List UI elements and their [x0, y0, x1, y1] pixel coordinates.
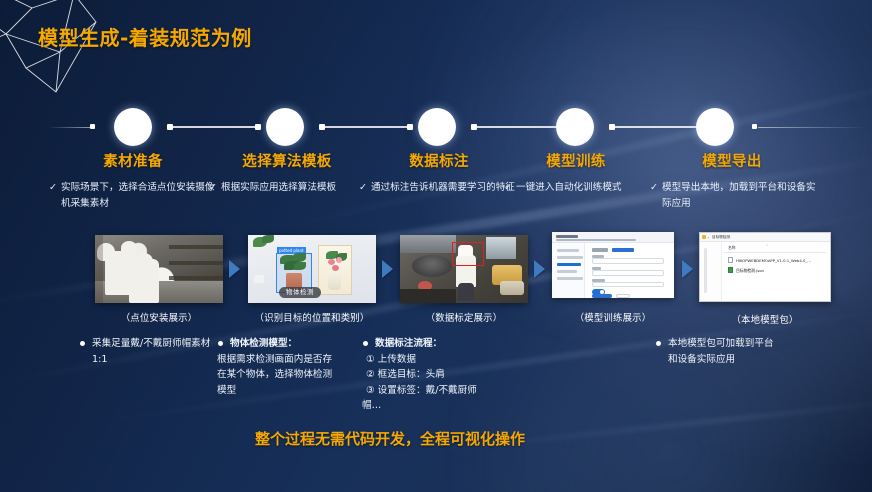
bullet-dot-icon: [80, 341, 85, 346]
bullet-dot-icon: [363, 341, 368, 346]
presentation-slide: 模型生成-着装规范为例 素材准备 ✓ 实际场景下，选择合适点位安装摄像机采集素材…: [0, 0, 872, 492]
submit-button[interactable]: [592, 294, 612, 298]
note-text: 1:1: [79, 352, 229, 368]
step-check-2: ✓ 根据实际应用选择算法模板: [203, 180, 371, 196]
step-caption-1: （点位安装展示）: [95, 310, 223, 324]
step-check-text-4: 一键进入自动化训练模式: [516, 182, 622, 193]
json-file-icon: [728, 267, 733, 273]
timeline-connector-4-5: [612, 126, 700, 128]
explorer-path: 目标物检测: [712, 235, 730, 240]
step-title-1: 素材准备: [49, 150, 217, 171]
explorer-nav-pane[interactable]: [700, 242, 722, 301]
note-text: ② 框选目标：头肩: [362, 367, 512, 383]
step-check-1: ✓ 实际场景下，选择合适点位安装摄像机采集素材: [49, 180, 217, 212]
note-text: 和设备实际应用: [655, 352, 815, 368]
step-image-3: [400, 235, 528, 303]
step-column-1: 素材准备 ✓ 实际场景下，选择合适点位安装摄像机采集素材: [49, 150, 217, 212]
note-text: 本地模型包可加载到平台: [668, 338, 774, 349]
folder-icon: [702, 235, 706, 239]
polygon-wireframe-decoration: [0, 0, 180, 120]
step-caption-5: （本地模型包）: [699, 312, 831, 326]
note-text: 采集足量戴/不戴厨师帽素材: [92, 338, 210, 349]
note-heading-text: 数据标注流程：: [375, 338, 442, 349]
explorer-file-name[interactable]: 目标物检测.json: [736, 268, 764, 274]
note-column-3: 数据标注流程： ① 上传数据 ② 框选目标：头肩 ③ 设置标签：戴/不戴厨师 帽…: [362, 336, 512, 414]
note-column-2: 物体检测模型： 根据需求检测画面内是否存 在某个物体，选择物体检测 模型: [217, 336, 359, 398]
timeline-connector-2-3: [322, 126, 410, 128]
flow-arrow-1: [229, 260, 240, 278]
step-check-text-2: 根据实际应用选择算法模板: [221, 182, 336, 193]
process-timeline: [0, 108, 872, 154]
timeline-node-5[interactable]: [696, 108, 734, 146]
chevron-right-icon: ›: [708, 235, 710, 240]
file-icon: [728, 257, 733, 263]
note-bullet-1: 采集足量戴/不戴厨师帽素材: [79, 336, 229, 352]
step-column-2: 选择算法模板 ✓ 根据实际应用选择算法模板: [203, 150, 371, 196]
timeline-node-1[interactable]: [114, 108, 152, 146]
scrollbar[interactable]: [704, 248, 707, 293]
note-text: 根据需求检测画面内是否存: [217, 352, 359, 368]
summary-note: 整个过程无需代码开发，全程可视化操作: [255, 428, 625, 451]
note-text: ① 上传数据: [362, 352, 512, 368]
check-icon: ✓: [49, 180, 57, 196]
note-column-1: 采集足量戴/不戴厨师帽素材 1:1: [79, 336, 229, 367]
timeline-node-3[interactable]: [418, 108, 456, 146]
check-icon: ✓: [650, 180, 658, 196]
page-title: 模型生成-着装规范为例: [38, 22, 252, 51]
step-image-2: potted plant 物体检测: [248, 235, 376, 303]
timeline-connector-1-2: [170, 126, 258, 128]
step-check-text-5: 模型导出本地，加载到平台和设备实际应用: [662, 182, 816, 209]
timeline-node-2[interactable]: [266, 108, 304, 146]
detection-result-label: 物体检测: [279, 287, 321, 298]
note-text: ③ 设置标签：戴/不戴厨师: [362, 383, 512, 399]
note-text: 模型: [217, 383, 359, 399]
bullet-dot-icon: [218, 341, 223, 346]
step-image-4: [552, 232, 674, 298]
sort-caret-icon: ˄: [766, 244, 768, 249]
annotation-bounding-box: [452, 242, 484, 266]
note-heading-2: 物体检测模型：: [217, 336, 359, 352]
step-check-text-1: 实际场景下，选择合适点位安装摄像机采集素材: [61, 182, 215, 209]
note-text: 帽…: [362, 398, 512, 414]
check-icon: ✓: [359, 180, 367, 196]
explorer-column-header: 名称: [728, 245, 736, 251]
note-heading-text: 物体检测模型：: [230, 338, 297, 349]
check-icon: ✓: [209, 180, 217, 196]
timeline-connector-3-4: [474, 126, 562, 128]
step-caption-2: （识别目标的位置和类别）: [240, 310, 384, 324]
step-title-2: 选择算法模板: [203, 150, 371, 171]
step-column-5: 模型导出 ✓ 模型导出本地，加载到平台和设备实际应用: [648, 150, 816, 212]
note-text: 在某个物体，选择物体检测: [217, 367, 359, 383]
step-title-4: 模型训练: [492, 150, 660, 171]
step-check-5: ✓ 模型导出本地，加载到平台和设备实际应用: [648, 180, 816, 212]
step-caption-4: （模型训练展示）: [548, 310, 678, 324]
bullet-dot-icon: [656, 341, 661, 346]
check-icon: ✓: [504, 180, 512, 196]
step-caption-3: （数据标定展示）: [400, 310, 528, 324]
timeline-node-4[interactable]: [556, 108, 594, 146]
explorer-address-bar[interactable]: › 目标物检测: [700, 233, 830, 242]
note-bullet-5: 本地模型包可加载到平台: [655, 336, 815, 352]
step-image-1: [95, 235, 223, 303]
note-column-5: 本地模型包可加载到平台 和设备实际应用: [655, 336, 815, 367]
note-heading-3: 数据标注流程：: [362, 336, 512, 352]
flow-arrow-2: [382, 260, 393, 278]
step-title-5: 模型导出: [648, 150, 816, 171]
cancel-button[interactable]: [616, 294, 630, 298]
explorer-file-name[interactable]: HIKOPWEBDEMOAPP_V1.0.1_Web4.0_...: [736, 258, 811, 263]
flow-arrow-4: [682, 260, 693, 278]
step-check-4: ✓ 一键进入自动化训练模式: [492, 180, 660, 196]
step-image-5: › 目标物检测 ˄ 名称 HIKOPWEBDEMOAPP_V1.0.1_Web4…: [699, 232, 831, 302]
step-column-4: 模型训练 ✓ 一键进入自动化训练模式: [492, 150, 660, 196]
flow-arrow-3: [534, 260, 545, 278]
